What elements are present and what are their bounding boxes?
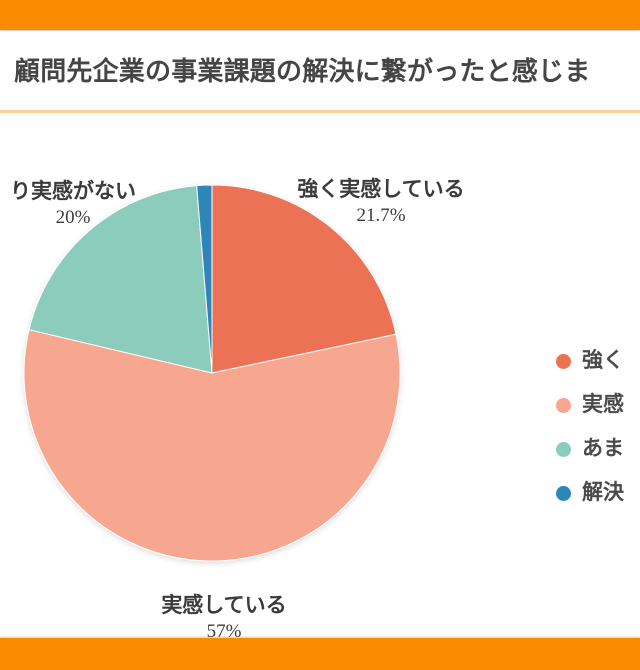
callout-amari: り実感がない 20% (0, 179, 178, 231)
bottom-orange-banner (0, 638, 640, 670)
callout-tsuyoku: 強く実感している 21.7% (278, 177, 484, 229)
screenshot-root: 顧問先企業の事業課題の解決に繋がったと感じま り実感がない 20% 強く実感して… (0, 0, 640, 670)
pie-slice-group (24, 185, 400, 561)
callout-jikkan-label: 実感している (108, 593, 340, 619)
legend-item-tsuyoku[interactable]: 強く (556, 339, 640, 383)
top-orange-banner (0, 0, 640, 30)
legend-item-label: 強く (582, 349, 624, 373)
legend-color-swatch-icon (556, 486, 571, 501)
legend-color-swatch-icon (556, 398, 571, 413)
pie-chart-svg (0, 31, 640, 638)
callout-amari-percent: 20% (0, 205, 178, 231)
callout-jikkan-percent: 57% (108, 619, 340, 638)
legend-color-swatch-icon (556, 442, 571, 457)
legend-item-amari[interactable]: あま (556, 427, 640, 471)
legend-item-label: 実感 (582, 393, 624, 417)
callout-tsuyoku-label: 強く実感している (278, 177, 484, 203)
callout-tsuyoku-percent: 21.7% (278, 203, 484, 229)
chart-legend: 強く実感あま解決 (556, 339, 640, 515)
chart-card: 顧問先企業の事業課題の解決に繋がったと感じま り実感がない 20% 強く実感して… (0, 31, 640, 638)
legend-item-jikkan[interactable]: 実感 (556, 383, 640, 427)
legend-item-label: 解決 (582, 481, 624, 505)
pie-chart (0, 31, 640, 638)
callout-jikkan: 実感している 57% (108, 593, 340, 638)
legend-color-swatch-icon (556, 354, 571, 369)
legend-item-kaiketsu[interactable]: 解決 (556, 471, 640, 515)
callout-amari-label: り実感がない (0, 179, 178, 205)
legend-item-label: あま (582, 437, 624, 461)
